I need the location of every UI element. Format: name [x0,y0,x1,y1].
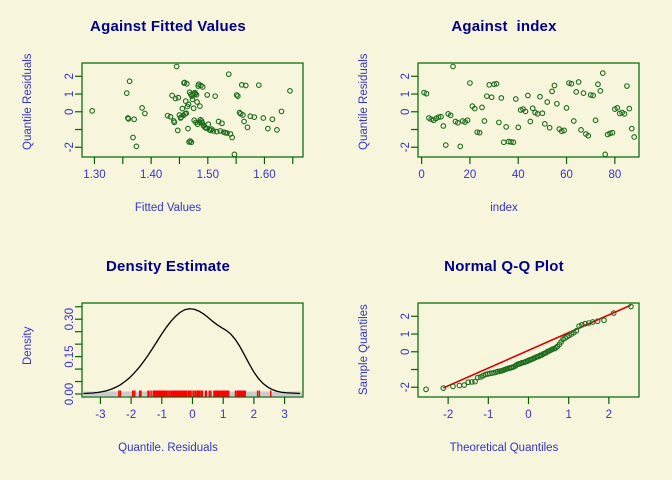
data-points [422,64,637,156]
panel-against-index: Against index Quantile Residuals 0204060… [336,0,672,240]
x-axis-label: Theoretical Quantiles [336,442,672,454]
svg-text:1: 1 [565,409,571,421]
svg-text:0: 0 [400,109,412,115]
svg-text:0: 0 [525,409,531,421]
x-axis-label: Quantile. Residuals [0,442,336,454]
svg-text:1: 1 [220,409,226,421]
panel-density-estimate: Density Estimate Density -3-2-101230.000… [0,240,336,480]
svg-text:2: 2 [64,73,76,79]
svg-text:0.15: 0.15 [64,345,76,367]
qq-reference-line [443,305,631,388]
svg-text:2: 2 [606,409,612,421]
svg-text:3: 3 [281,409,287,421]
x-axis-label: Fitted Values [0,202,336,214]
svg-text:-3: -3 [95,409,105,421]
svg-text:0: 0 [400,349,412,355]
x-axis-label: index [336,202,672,214]
svg-text:0: 0 [189,409,195,421]
svg-text:1.40: 1.40 [140,169,162,181]
svg-text:40: 40 [512,169,525,181]
panel-against-fitted-values: Against Fitted Values Quantile Residuals… [0,0,336,240]
svg-text:-1: -1 [157,409,167,421]
svg-text:-2: -2 [126,409,136,421]
svg-text:-2: -2 [400,382,412,392]
svg-text:20: 20 [464,169,477,181]
svg-text:1: 1 [64,91,76,97]
svg-text:2: 2 [251,409,257,421]
svg-text:1.50: 1.50 [197,169,219,181]
svg-text:0: 0 [418,169,424,181]
svg-text:1: 1 [400,331,412,337]
svg-text:2: 2 [400,313,412,319]
svg-text:1.60: 1.60 [253,169,275,181]
svg-text:-2: -2 [400,142,412,152]
svg-text:-2: -2 [64,142,76,152]
svg-text:0.00: 0.00 [64,383,76,405]
svg-text:-2: -2 [443,409,453,421]
svg-text:80: 80 [608,169,621,181]
svg-text:0.30: 0.30 [64,308,76,330]
svg-text:1: 1 [400,91,412,97]
data-points [90,64,292,156]
svg-text:0: 0 [64,109,76,115]
svg-text:60: 60 [560,169,573,181]
r-diagnostic-plot-figure: Against Fitted Values Quantile Residuals… [0,0,672,480]
svg-text:1.30: 1.30 [83,169,105,181]
panel-normal-qq-plot: Normal Q-Q Plot Sample Quantiles -2-1012… [336,240,672,480]
density-curve [84,309,300,394]
svg-text:-1: -1 [483,409,493,421]
svg-text:2: 2 [400,73,412,79]
